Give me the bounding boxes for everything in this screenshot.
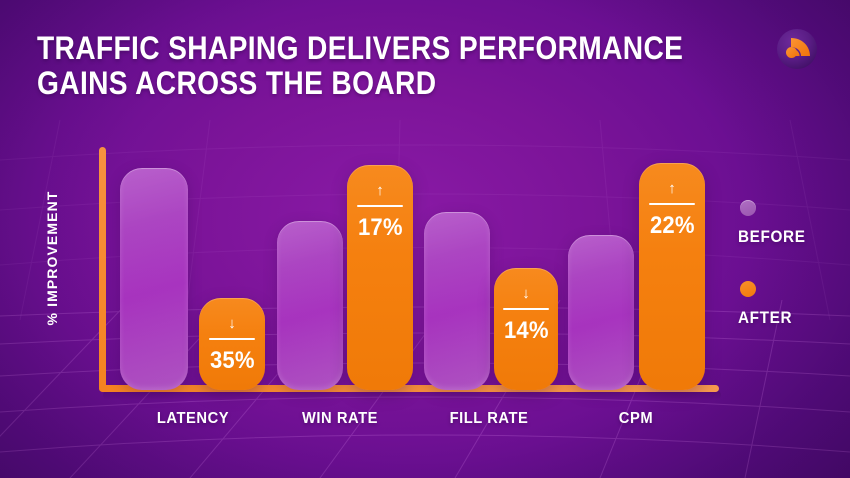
bar-before-win-rate [277,221,343,390]
bar-after-latency: ↓ 35% [199,298,265,390]
value-divider [503,308,549,310]
trend-arrow-down-icon: ↓ [228,316,236,331]
trend-arrow-up-icon: ↑ [668,181,676,196]
bar-after-win-rate: ↑ 17% [347,165,413,390]
trend-arrow-down-icon: ↓ [522,286,530,301]
category-label-fill-rate: Fill Rate [422,410,556,428]
category-label-latency: Latency [126,410,260,428]
legend-label-after: After [738,308,806,328]
bar-value-cpm: 22% [650,212,695,240]
x-axis-line [99,385,719,392]
bar-value-latency: 35% [210,347,255,375]
bar-after-fill-rate: ↓ 14% [494,268,558,390]
y-axis-label: % Improvement [44,158,60,358]
bar-after-cpm: ↑ 22% [639,163,705,390]
category-label-cpm: CPM [569,410,703,428]
value-divider [649,203,695,205]
y-axis-line [99,147,106,391]
value-divider [209,338,255,340]
legend-dot-after-icon [740,281,756,297]
legend-label-before: Before [738,227,806,247]
bar-before-fill-rate [424,212,490,390]
infographic-canvas: Traffic shaping delivers performance gai… [0,0,850,478]
trend-arrow-up-icon: ↑ [376,183,384,198]
bar-value-fill-rate: 14% [504,317,549,345]
legend-item-after[interactable]: After [738,281,813,328]
category-label-win-rate: Win Rate [273,410,407,428]
legend-item-before[interactable]: Before [738,200,813,247]
bar-before-cpm [568,235,634,390]
value-divider [357,205,403,207]
bar-chart: % Improvement ↓ 35% Latency ↑ 17% Win Ra… [0,0,850,478]
bar-before-latency [120,168,188,390]
bar-value-win-rate: 17% [358,214,403,242]
chart-legend: Before After [738,200,813,362]
legend-dot-before-icon [740,200,756,216]
